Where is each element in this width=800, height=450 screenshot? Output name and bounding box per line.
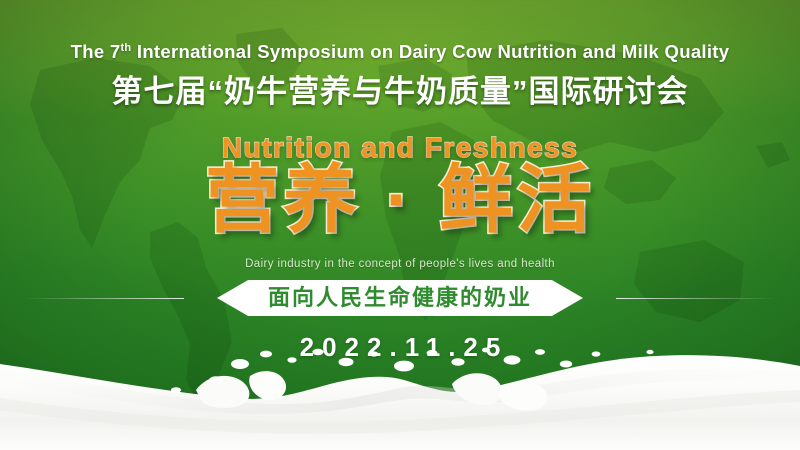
conference-poster: The 7th International Symposium on Dairy… — [0, 0, 800, 450]
poster-content: The 7th International Symposium on Dairy… — [0, 0, 800, 450]
title-english-ordinal: th — [120, 42, 131, 54]
title-english-post: International Symposium on Dairy Cow Nut… — [131, 41, 729, 62]
title-english-pre: The 7 — [71, 41, 121, 62]
ribbon-rule-right — [616, 298, 776, 300]
theme-ribbon-label: 面向人民生命健康的奶业 — [217, 280, 583, 316]
page-title-chinese: 第七届“奶牛营养与牛奶质量”国际研讨会 — [0, 66, 800, 111]
slogan-chinese: 营养 · 鲜活 — [0, 163, 800, 237]
theme-subtitle-english: Dairy industry in the concept of people'… — [0, 258, 800, 270]
ribbon-rule-left — [24, 298, 184, 300]
event-date: 2022.11.25 — [0, 332, 800, 363]
page-title-english: The 7th International Symposium on Dairy… — [0, 41, 800, 63]
